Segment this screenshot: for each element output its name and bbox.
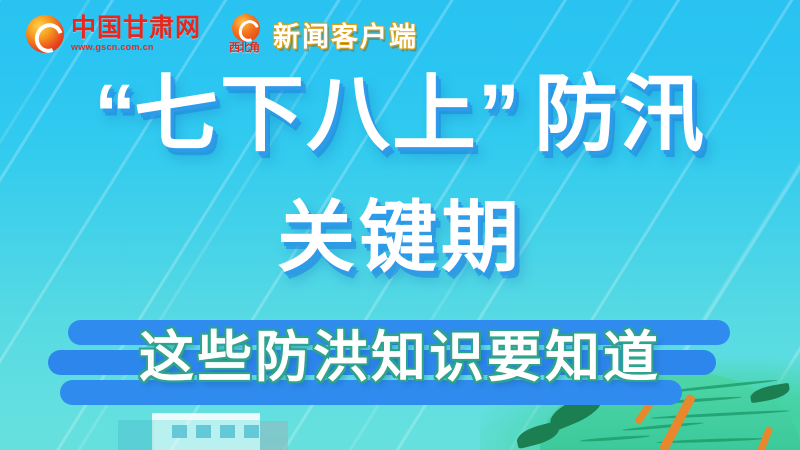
close-quote: ” xyxy=(478,67,518,161)
xibeijiao-label: 西北角 xyxy=(229,39,259,55)
brand-text-group: 中国甘肃网 www.gscn.com.cn xyxy=(71,16,201,53)
brand-url: www.gscn.com.cn xyxy=(71,42,201,52)
news-client-label: 新闻客户端 xyxy=(273,15,418,54)
xibeijiao-icon: 西北角 xyxy=(229,14,263,54)
flood-prevention-poster: 中国甘肃网 www.gscn.com.cn 西北角 新闻客户端 “七下八上”防汛… xyxy=(0,0,800,450)
title-line-3: 这些防洪知识要知道 xyxy=(0,330,800,385)
site-header: 中国甘肃网 www.gscn.com.cn 西北角 新闻客户端 xyxy=(0,0,800,68)
xibeijiao-circle-icon xyxy=(232,14,260,42)
brand-name: 中国甘肃网 xyxy=(71,16,201,42)
title-line-2: 关键期 xyxy=(0,198,800,276)
brand-gansu-net[interactable]: 中国甘肃网 www.gscn.com.cn xyxy=(26,15,201,53)
brand-news-client[interactable]: 西北角 新闻客户端 xyxy=(229,14,418,54)
open-quote: “ xyxy=(94,67,134,161)
title-line-1: “七下八上”防汛 xyxy=(0,72,800,156)
title-word-fangxun: 防汛 xyxy=(534,67,706,161)
gscn-swan-icon xyxy=(26,15,64,53)
title-phrase-qixiabashang: 七下八上 xyxy=(134,67,478,161)
